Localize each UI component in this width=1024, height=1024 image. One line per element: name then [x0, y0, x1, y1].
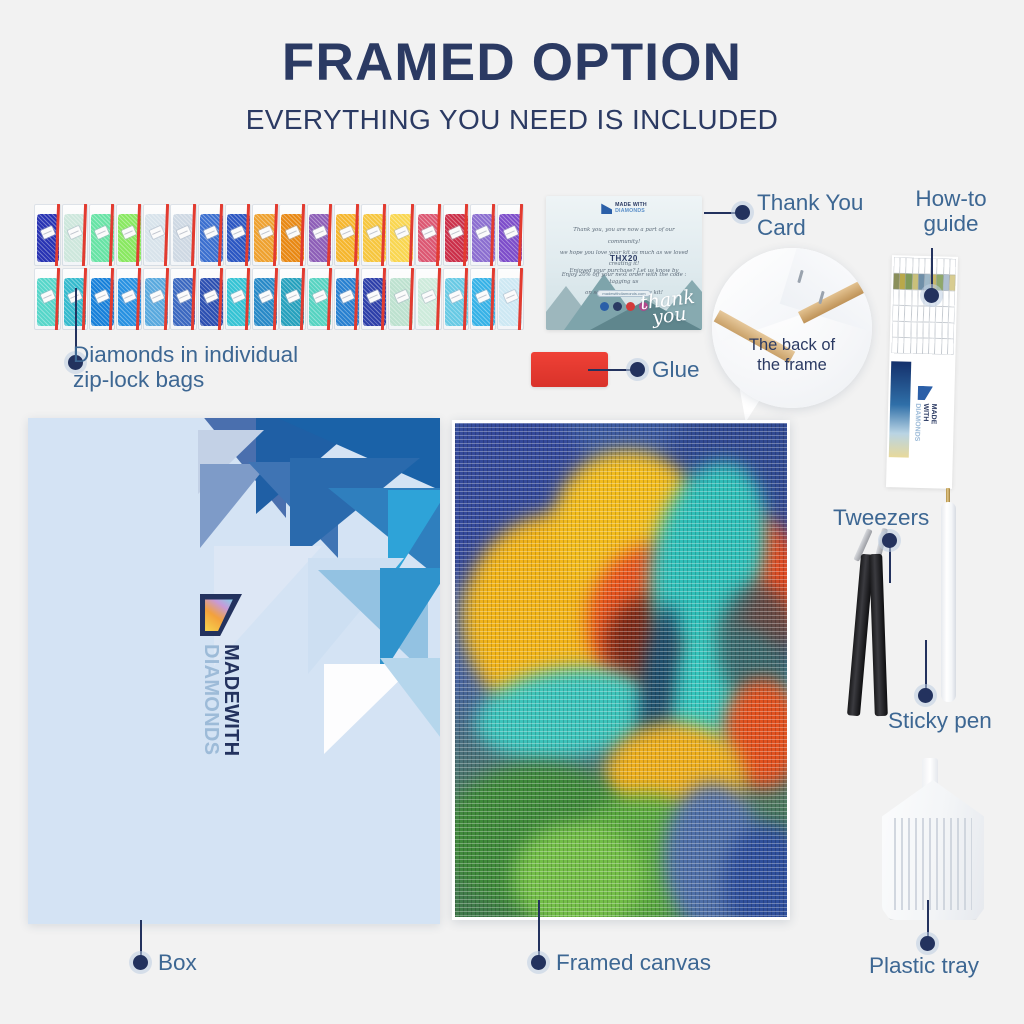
diamond-mark-icon [918, 386, 933, 401]
leader-line-sticky-pen [925, 640, 927, 692]
guide-table-cell [948, 307, 955, 323]
zip-lock-bag [62, 204, 88, 266]
pen-body [941, 502, 956, 702]
canvas-artwork [455, 423, 787, 917]
guide-table-cell [948, 323, 955, 339]
zip-lock-bag [198, 268, 224, 330]
card-promo-code: THX20 [546, 254, 702, 263]
marker-dot-canvas [531, 955, 546, 970]
box-brand-text: MADEWITH DIAMONDS [201, 644, 242, 756]
zip-lock-bag [361, 204, 387, 266]
page-subtitle: EVERYTHING YOU NEED IS INCLUDED [0, 106, 1024, 134]
card-brand-text: MADE WITH DIAMONDS [615, 203, 647, 215]
label-diamonds: Diamonds in individual zip-lock bags [73, 342, 373, 392]
zip-lock-bag [198, 204, 224, 266]
zip-lock-bag [225, 268, 251, 330]
zip-lock-bag [497, 268, 523, 330]
tray-ribs [894, 818, 972, 910]
label-glue: Glue [652, 357, 700, 382]
zip-lock-bag [334, 268, 360, 330]
zip-lock-bag [225, 204, 251, 266]
guide-color-table [891, 257, 955, 355]
marker-dot-thank-you [735, 205, 750, 220]
label-thank-you-card: Thank You Card [757, 190, 887, 240]
label-box: Box [158, 950, 197, 975]
plastic-tray-item [878, 758, 988, 938]
zip-lock-bag [443, 204, 469, 266]
framed-canvas-item [452, 420, 790, 920]
guide-table-cell [949, 291, 956, 307]
tweezers-arm-right [869, 554, 888, 716]
box-poly-16 [380, 658, 440, 750]
label-tweezers: Tweezers [833, 505, 929, 530]
facebook-icon [600, 302, 609, 311]
page-title: FRAMED OPTION [0, 36, 1024, 89]
zip-lock-bag [143, 204, 169, 266]
diamond-mark-icon [200, 594, 242, 636]
zip-lock-bag [89, 268, 115, 330]
label-sticky-pen: Sticky pen [888, 708, 992, 733]
guide-brand-logo: MADE WITH DIAMONDS [912, 386, 938, 443]
label-how-to-guide: How-to guide [891, 186, 1011, 236]
zip-lock-bag [388, 204, 414, 266]
zip-lock-bag [470, 204, 496, 266]
guide-brand-text: MADE WITH DIAMONDS [912, 403, 937, 442]
sticky-pen-item [938, 488, 960, 704]
marker-dot-tray [920, 936, 935, 951]
zip-lock-bag [415, 268, 441, 330]
zip-lock-bag [443, 268, 469, 330]
marker-dot-tweezers [882, 533, 897, 548]
youtube-icon [626, 302, 635, 311]
marker-dot-box [133, 955, 148, 970]
zip-lock-bag [34, 268, 60, 330]
zip-lock-bag [252, 268, 278, 330]
zip-lock-bag [252, 204, 278, 266]
frame-back-caption: The back of the frame [712, 336, 872, 376]
box-brand-logo: MADEWITH DIAMONDS [200, 594, 242, 756]
leader-line-tweezers [889, 545, 891, 583]
card-brand-logo: MADE WITH DIAMONDS [601, 203, 647, 215]
thank-you-card-item: MADE WITH DIAMONDS Thank you, you are no… [546, 196, 702, 330]
zip-lock-bag [116, 204, 142, 266]
zip-lock-bag [334, 204, 360, 266]
guide-table-cell [949, 259, 956, 275]
zip-lock-bag [470, 268, 496, 330]
zip-lock-bag [497, 204, 523, 266]
frame-back-callout: The back of the frame [712, 248, 872, 408]
zip-lock-bag [89, 204, 115, 266]
label-plastic-tray: Plastic tray [869, 953, 979, 978]
zip-lock-bag [415, 204, 441, 266]
diamond-mark-icon [601, 203, 612, 214]
how-to-guide-item: MADE WITH DIAMONDS [886, 255, 958, 489]
zip-lock-bag [307, 204, 333, 266]
zip-lock-bag [116, 268, 142, 330]
zip-lock-bags-row-top [34, 204, 524, 266]
zip-lock-bag [170, 268, 196, 330]
marker-dot-glue [630, 362, 645, 377]
zip-lock-bags-row-bottom [34, 268, 524, 330]
leader-line-glue [588, 369, 634, 371]
zip-lock-bag [143, 268, 169, 330]
zip-lock-bag [279, 204, 305, 266]
pinterest-icon [613, 302, 622, 311]
zip-lock-bag [361, 268, 387, 330]
leader-line-tray [927, 900, 929, 940]
guide-artwork-strip [889, 361, 912, 457]
zip-lock-bag [388, 268, 414, 330]
marker-dot-how-to [924, 288, 939, 303]
marker-dot-sticky-pen [918, 688, 933, 703]
product-infographic: FRAMED OPTION EVERYTHING YOU NEED IS INC… [0, 0, 1024, 1024]
guide-table-cell [947, 339, 954, 355]
diamond-mosaic-grid [455, 423, 787, 917]
box-item: MADEWITH DIAMONDS [28, 418, 440, 924]
leader-line-box [140, 920, 142, 960]
tweezers-item [848, 528, 908, 718]
leader-line-canvas [538, 900, 540, 960]
guide-color-swatch [949, 275, 956, 291]
zip-lock-bag [34, 204, 60, 266]
zip-lock-bag [307, 268, 333, 330]
label-framed-canvas: Framed canvas [556, 950, 711, 975]
zip-lock-bag [279, 268, 305, 330]
zip-lock-bag [170, 204, 196, 266]
